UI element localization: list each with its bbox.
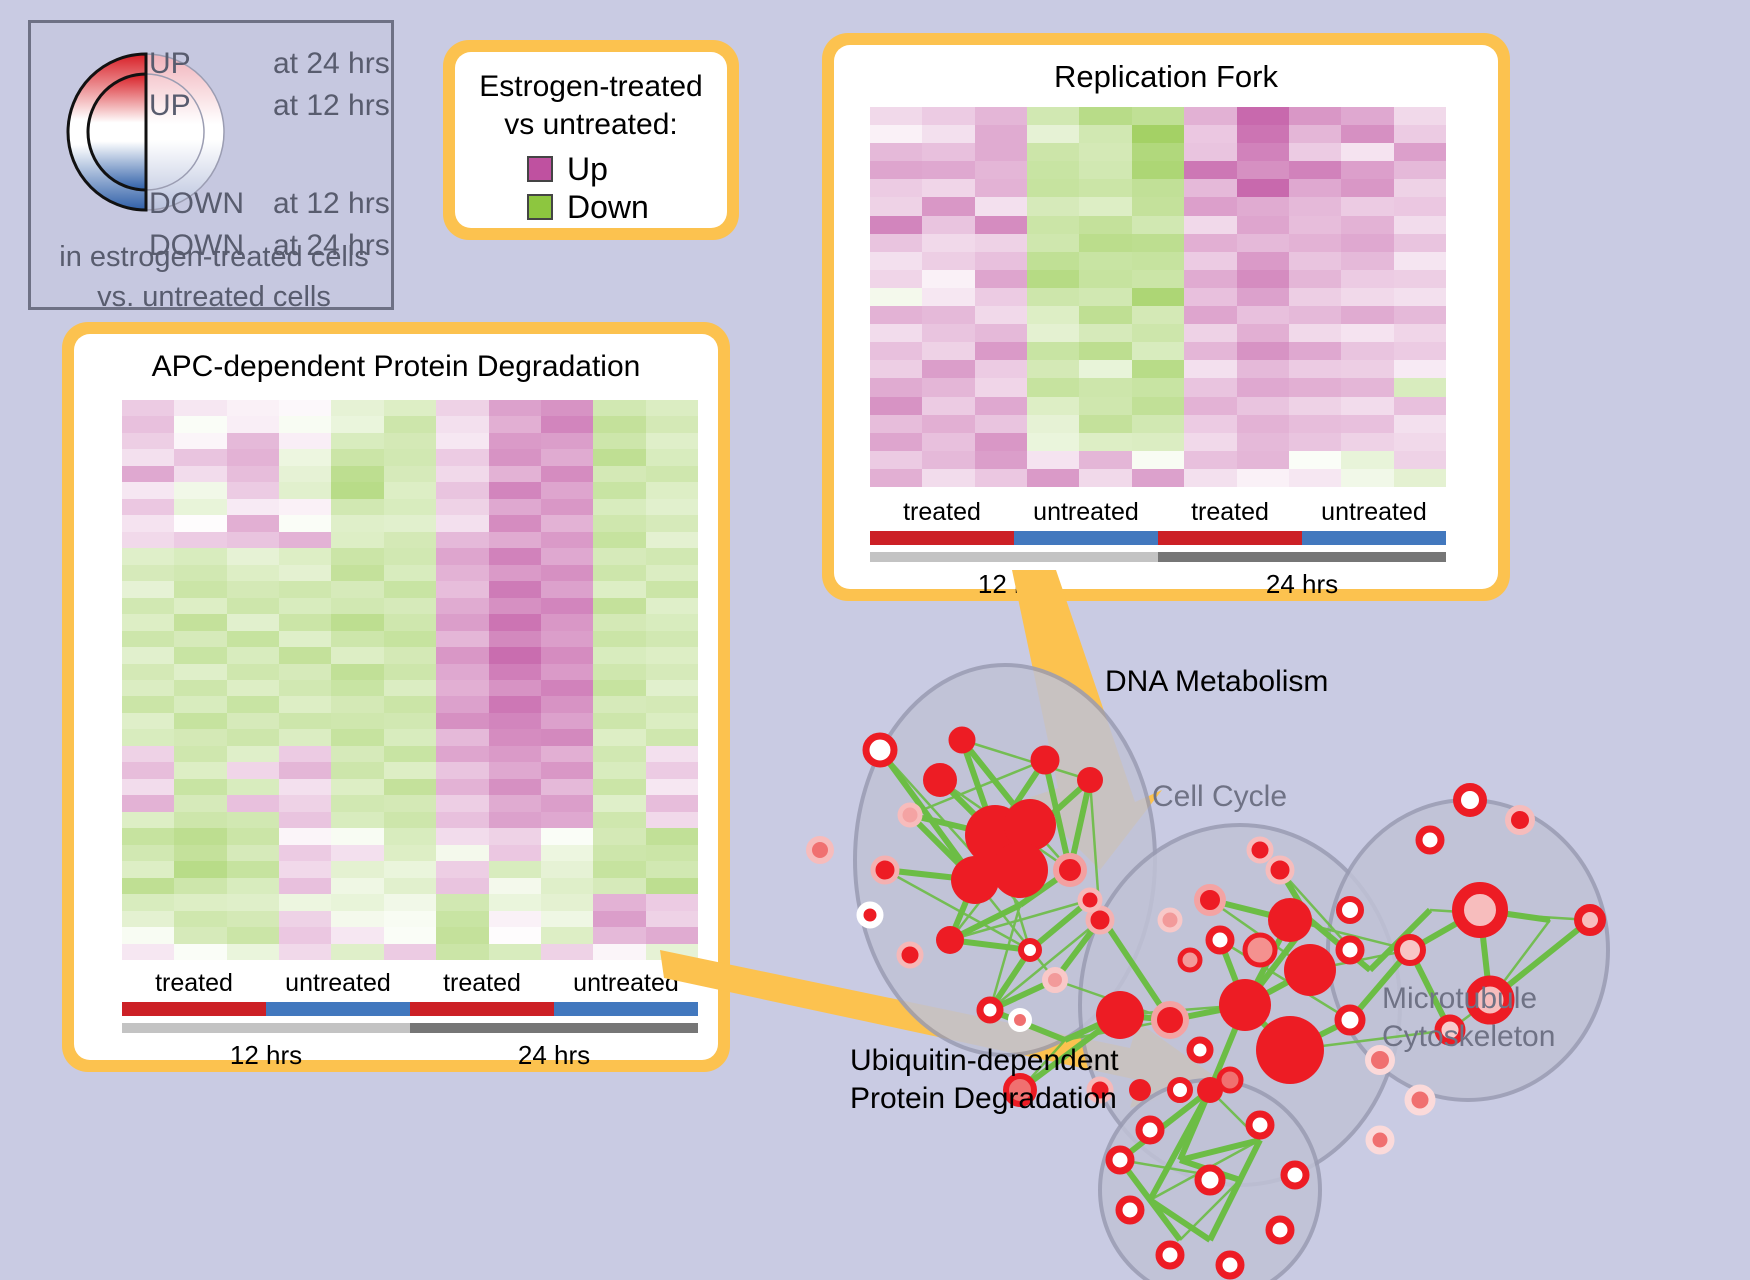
heatmap-cell (122, 433, 174, 449)
heatmap-cell (436, 795, 488, 811)
heatmap-cell (1184, 161, 1236, 179)
heatmap-cell (1027, 252, 1079, 270)
heatmap-cell (1027, 415, 1079, 433)
heatmap-cell (279, 944, 331, 960)
heatmap-cell (489, 746, 541, 762)
heatmap-cell (227, 664, 279, 680)
heatmap-cell (870, 161, 922, 179)
heatmap-cell (1289, 143, 1341, 161)
heatmap-cell (1237, 451, 1289, 469)
heatmap-cell (541, 482, 593, 498)
heatmap-cell (975, 107, 1027, 125)
replication-fork-inner: Replication Fork treated untreated treat… (834, 45, 1498, 589)
heatmap-cell (1132, 234, 1184, 252)
heatmap-cell (1394, 143, 1446, 161)
heatmap-cell (646, 532, 698, 548)
heatmap-cell (174, 729, 226, 745)
heatmap-cell (122, 795, 174, 811)
heatmap-cell (122, 449, 174, 465)
heatmap-cell (1132, 216, 1184, 234)
heatmap-cell (975, 397, 1027, 415)
heatmap-cell (975, 433, 1027, 451)
heatmap-cell (593, 449, 645, 465)
heatmap-cell (122, 664, 174, 680)
heatmap-cell (1184, 125, 1236, 143)
heatmap-cell (174, 449, 226, 465)
heatmap-cell (489, 894, 541, 910)
heatmap-cell (593, 565, 645, 581)
heatmap-cell (436, 944, 488, 960)
heatmap-cell (436, 548, 488, 564)
heatmap-cell (1394, 342, 1446, 360)
heatmap-cell (1132, 360, 1184, 378)
heatmap-cell (489, 466, 541, 482)
heatmap-cell (975, 252, 1027, 270)
heatmap-cell (489, 647, 541, 663)
heatmap-cell (227, 565, 279, 581)
heatmap-cell (436, 565, 488, 581)
heatmap-cell (331, 927, 383, 943)
heatmap-cell (1027, 469, 1079, 487)
heatmap-cell (122, 515, 174, 531)
heatmap-cell (279, 647, 331, 663)
heatmap-cell (174, 614, 226, 630)
heatmap-cell (593, 532, 645, 548)
heatmap-cell (279, 696, 331, 712)
heatmap-cell (870, 324, 922, 342)
heatmap-cell (489, 911, 541, 927)
heatmap-cell (593, 664, 645, 680)
heatmap-cell (384, 944, 436, 960)
heatmap-cell (279, 927, 331, 943)
heatmap-cell (541, 861, 593, 877)
heatmap-cell (384, 845, 436, 861)
heatmap-cell (436, 828, 488, 844)
heatmap-cell (122, 647, 174, 663)
heatmap-cell (646, 664, 698, 680)
heatmap-cell (331, 515, 383, 531)
heatmap-cell (174, 944, 226, 960)
heatmap-cell (1027, 324, 1079, 342)
heatmap-cell (122, 944, 174, 960)
bar-segment-untreated-24 (1302, 531, 1446, 545)
heatmap-cell (1237, 270, 1289, 288)
heatmap-cell (489, 515, 541, 531)
pathway-network-diagram (790, 620, 1750, 1280)
heatmap-cell (1289, 288, 1341, 306)
heatmap-cell (436, 433, 488, 449)
heatmap-cell (975, 378, 1027, 396)
heatmap-cell (646, 878, 698, 894)
heatmap-cell (1289, 216, 1341, 234)
figure-canvas: UP at 24 hrs UP at 12 hrs DOWN at 12 hrs… (0, 0, 1750, 1279)
heatmap-cell (541, 911, 593, 927)
heatmap-cell (436, 664, 488, 680)
heatmap-cell (593, 927, 645, 943)
bar-segment-treated-24 (410, 1002, 554, 1016)
heatmap-cell (331, 729, 383, 745)
heatmap-cell (227, 713, 279, 729)
heatmap-cell (1394, 234, 1446, 252)
heatmap-cell (1394, 415, 1446, 433)
cluster-label-ubiquitin-degradation: Ubiquitin-dependent Protein Degradation (850, 1042, 1119, 1118)
heatmap-cell (1184, 288, 1236, 306)
heatmap-cell (975, 360, 1027, 378)
heatmap-cell (174, 696, 226, 712)
heatmap-cell (489, 680, 541, 696)
heatmap-cell (1237, 433, 1289, 451)
heatmap-cell (593, 779, 645, 795)
heatmap-cell (1027, 179, 1079, 197)
heatmap-cell (384, 664, 436, 680)
heatmap-cell (1289, 378, 1341, 396)
heatmap-cell (1132, 179, 1184, 197)
heatmap-cell (436, 746, 488, 762)
heatmap-cell (174, 400, 226, 416)
heatmap-cell (436, 614, 488, 630)
heatmap-cell (541, 779, 593, 795)
apc-degradation-inner: APC-dependent Protein Degradation treate… (74, 334, 718, 1060)
heatmap-cell (593, 729, 645, 745)
heatmap-cell (436, 631, 488, 647)
key-spacer (149, 131, 399, 187)
heatmap-cell (646, 795, 698, 811)
heatmap-cell (870, 288, 922, 306)
heatmap-cell (1027, 360, 1079, 378)
heatmap-cell (870, 234, 922, 252)
heatmap-cell (1184, 415, 1236, 433)
heatmap-cell (489, 614, 541, 630)
heatmap-cell (384, 729, 436, 745)
heatmap-cell (331, 812, 383, 828)
heatmap-cell (922, 360, 974, 378)
heatmap-cell (384, 598, 436, 614)
legend-card-inner: Estrogen-treated vs untreated: Up Down (455, 52, 727, 228)
heatmap-cell (870, 252, 922, 270)
heatmap-cell (174, 812, 226, 828)
heatmap-cell (646, 894, 698, 910)
heatmap-cell (331, 647, 383, 663)
heatmap-cell (1394, 433, 1446, 451)
heatmap-cell (1027, 270, 1079, 288)
heatmap-cell (1184, 179, 1236, 197)
heatmap-cell (541, 944, 593, 960)
heatmap-cell (870, 469, 922, 487)
heatmap-cell (1341, 306, 1393, 324)
group-label: treated (122, 966, 266, 1000)
heatmap-cell (922, 469, 974, 487)
heatmap-cell (541, 400, 593, 416)
heatmap-cell (227, 729, 279, 745)
timepoint-colour-bar (870, 552, 1446, 562)
heatmap-cell (870, 378, 922, 396)
heatmap-cell (436, 878, 488, 894)
heatmap-cell (279, 400, 331, 416)
heatmap-cell (174, 911, 226, 927)
heatmap-cell (227, 416, 279, 432)
heatmap-cell (1027, 397, 1079, 415)
heatmap-cell (489, 565, 541, 581)
heatmap-cell (279, 894, 331, 910)
timepoint-label: 12 hrs (122, 1037, 410, 1073)
heatmap-cell (122, 894, 174, 910)
heatmap-cell (1394, 107, 1446, 125)
heatmap-cell (122, 532, 174, 548)
bar-segment-treated-12 (122, 1002, 266, 1016)
heatmap-cell (122, 729, 174, 745)
heatmap-cell (1079, 270, 1131, 288)
heatmap-cell (1079, 306, 1131, 324)
heatmap-cell (1341, 125, 1393, 143)
heatmap-cell (1184, 360, 1236, 378)
heatmap-cell (541, 713, 593, 729)
heatmap-cell (593, 416, 645, 432)
heatmap-cell (541, 729, 593, 745)
heatmap-cell (870, 270, 922, 288)
heatmap-cell (870, 397, 922, 415)
bar-segment-untreated-12 (266, 1002, 410, 1016)
heatmap-cell (593, 680, 645, 696)
heatmap-cell (436, 482, 488, 498)
heatmap-cell (1027, 161, 1079, 179)
heatmap-cell (1341, 179, 1393, 197)
heatmap-cell (870, 451, 922, 469)
heatmap-cell (975, 270, 1027, 288)
heatmap-cell (922, 324, 974, 342)
heatmap-cell (975, 451, 1027, 469)
heatmap-cell (1341, 360, 1393, 378)
heatmap-cell (1237, 306, 1289, 324)
heatmap-cell (1237, 107, 1289, 125)
apc-degradation-heatmap (122, 400, 698, 960)
heatmap-cell (279, 828, 331, 844)
heatmap-cell (279, 631, 331, 647)
heatmap-cell (646, 449, 698, 465)
key-label: UP (149, 89, 273, 123)
heatmap-cell (436, 729, 488, 745)
heatmap-cell (541, 845, 593, 861)
heatmap-cell (331, 548, 383, 564)
heatmap-cell (174, 680, 226, 696)
heatmap-cell (646, 812, 698, 828)
heatmap-cell (122, 680, 174, 696)
heatmap-cell (384, 400, 436, 416)
heatmap-cell (1132, 107, 1184, 125)
heatmap-cell (593, 631, 645, 647)
heatmap-cell (227, 581, 279, 597)
heatmap-cell (489, 779, 541, 795)
heatmap-cell (593, 499, 645, 515)
heatmap-cell (1079, 451, 1131, 469)
heatmap-cell (541, 746, 593, 762)
heatmap-cell (436, 515, 488, 531)
heatmap-cell (1341, 469, 1393, 487)
heatmap-cell (1341, 234, 1393, 252)
heatmap-cell (646, 614, 698, 630)
heatmap-cell (227, 878, 279, 894)
heatmap-cell (384, 647, 436, 663)
heatmap-cell (1237, 179, 1289, 197)
heatmap-cell (870, 415, 922, 433)
heatmap-cell (331, 762, 383, 778)
heatmap-cell (1184, 342, 1236, 360)
heatmap-cell (1027, 197, 1079, 215)
heatmap-cell (1237, 342, 1289, 360)
heatmap-cell (1132, 143, 1184, 161)
group-label: untreated (1014, 495, 1158, 529)
heatmap-cell (593, 581, 645, 597)
heatmap-cell (1132, 161, 1184, 179)
heatmap-cell (174, 565, 226, 581)
heatmap-cell (646, 581, 698, 597)
heatmap-cell (1132, 378, 1184, 396)
heatmap-cell (541, 598, 593, 614)
heatmap-cell (384, 878, 436, 894)
heatmap-cell (1289, 125, 1341, 143)
heatmap-cell (174, 762, 226, 778)
heatmap-cell (1394, 179, 1446, 197)
key-time: at 12 hrs (273, 187, 390, 221)
heatmap-cell (646, 598, 698, 614)
heatmap-cell (922, 107, 974, 125)
heatmap-cell (227, 482, 279, 498)
heatmap-cell (1237, 378, 1289, 396)
heatmap-cell (122, 713, 174, 729)
heatmap-cell (541, 812, 593, 828)
heatmap-cell (646, 680, 698, 696)
heatmap-cell (279, 845, 331, 861)
heatmap-cell (279, 515, 331, 531)
heatmap-cell (331, 944, 383, 960)
heatmap-cell (279, 680, 331, 696)
heatmap-cell (541, 466, 593, 482)
heatmap-cell (489, 696, 541, 712)
heatmap-cell (593, 828, 645, 844)
heatmap-cell (489, 795, 541, 811)
heatmap-cell (384, 696, 436, 712)
heatmap-cell (1237, 360, 1289, 378)
heatmap-cell (122, 631, 174, 647)
heatmap-cell (279, 779, 331, 795)
heatmap-cell (922, 306, 974, 324)
heatmap-cell (384, 828, 436, 844)
heatmap-cell (174, 894, 226, 910)
heatmap-cell (122, 416, 174, 432)
group-label: treated (410, 966, 554, 1000)
heatmap-cell (227, 696, 279, 712)
heatmap-cell (122, 565, 174, 581)
heatmap-cell (279, 548, 331, 564)
heatmap-cell (436, 911, 488, 927)
heatmap-cell (1394, 451, 1446, 469)
heatmap-cell (1237, 288, 1289, 306)
heatmap-cell (279, 878, 331, 894)
heatmap-cell (593, 466, 645, 482)
heatmap-cell (436, 598, 488, 614)
heatmap-cell (331, 416, 383, 432)
heatmap-cell (174, 548, 226, 564)
heatmap-cell (122, 812, 174, 828)
heatmap-cell (227, 515, 279, 531)
heatmap-cell (1289, 161, 1341, 179)
heatmap-cell (489, 812, 541, 828)
heatmap-cell (1184, 469, 1236, 487)
heatmap-cell (227, 746, 279, 762)
heatmap-cell (1289, 252, 1341, 270)
heatmap-cell (489, 400, 541, 416)
heatmap-cell (646, 416, 698, 432)
heatmap-cell (331, 466, 383, 482)
heatmap-cell (384, 581, 436, 597)
heatmap-cell (646, 861, 698, 877)
timepoint-labels: 12 hrs 24 hrs (122, 1037, 698, 1073)
heatmap-cell (922, 216, 974, 234)
up-swatch-icon (527, 156, 553, 182)
heatmap-cell (331, 911, 383, 927)
heatmap-cell (489, 482, 541, 498)
heatmap-cell (922, 378, 974, 396)
heatmap-cell (279, 581, 331, 597)
heatmap-cell (870, 360, 922, 378)
heatmap-cell (1027, 234, 1079, 252)
heatmap-cell (1079, 252, 1131, 270)
heatmap-cell (1341, 161, 1393, 179)
heatmap-cell (593, 812, 645, 828)
heatmap-cell (436, 532, 488, 548)
heatmap-cell (489, 581, 541, 597)
heatmap-cell (922, 288, 974, 306)
heatmap-cell (174, 466, 226, 482)
heatmap-cell (489, 433, 541, 449)
heatmap-cell (227, 499, 279, 515)
heatmap-cell (331, 631, 383, 647)
heatmap-cell (1132, 433, 1184, 451)
heatmap-cell (174, 746, 226, 762)
heatmap-cell (489, 416, 541, 432)
heatmap-cell (1184, 107, 1236, 125)
heatmap-cell (331, 482, 383, 498)
heatmap-cell (1027, 306, 1079, 324)
heatmap-cell (541, 927, 593, 943)
heatmap-cell (1184, 143, 1236, 161)
heatmap-cell (122, 400, 174, 416)
heatmap-cell (279, 482, 331, 498)
heatmap-cell (279, 911, 331, 927)
heatmap-cell (646, 911, 698, 927)
heatmap-cell (489, 631, 541, 647)
heatmap-cell (1341, 342, 1393, 360)
heatmap-cell (227, 614, 279, 630)
heatmap-cell (174, 482, 226, 498)
heatmap-cell (975, 469, 1027, 487)
heatmap-cell (384, 795, 436, 811)
legend-title-line-1: Estrogen-treated (473, 68, 709, 106)
panel-title: APC-dependent Protein Degradation (74, 334, 718, 384)
heatmap-cell (975, 234, 1027, 252)
heatmap-cell (1079, 234, 1131, 252)
heatmap-cell (646, 696, 698, 712)
heatmap-cell (922, 415, 974, 433)
heatmap-cell (1027, 451, 1079, 469)
heatmap-cell (646, 482, 698, 498)
heatmap-cell (593, 515, 645, 531)
heatmap-cell (1027, 107, 1079, 125)
heatmap-cell (1394, 360, 1446, 378)
heatmap-cell (1394, 306, 1446, 324)
heatmap-cell (1289, 342, 1341, 360)
heatmap-cell (174, 779, 226, 795)
heatmap-cell (541, 416, 593, 432)
